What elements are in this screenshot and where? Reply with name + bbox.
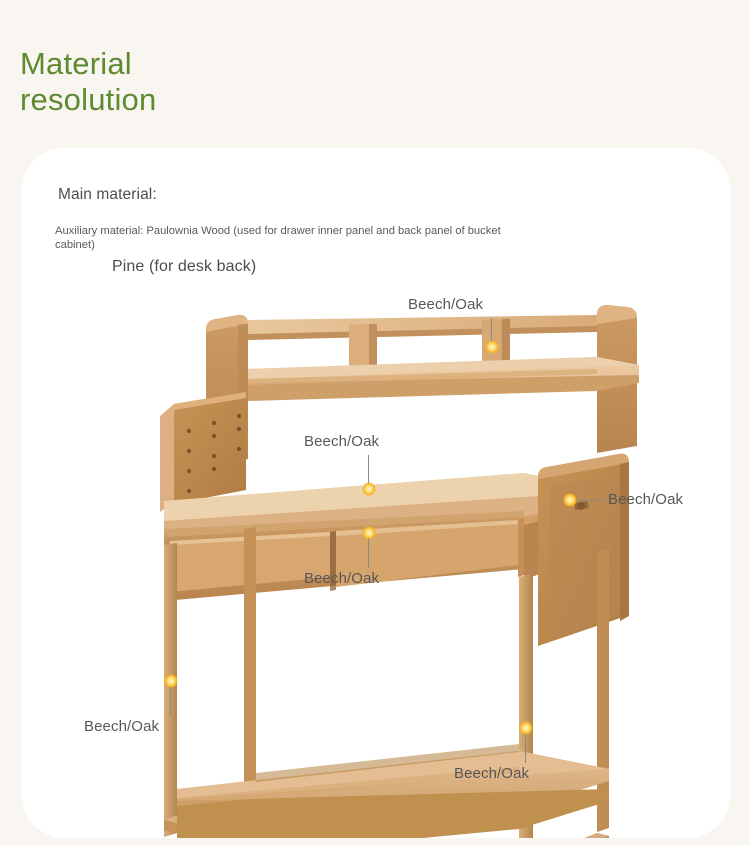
callout-label-hutch-divider: Beech/Oak (408, 296, 483, 313)
leader-line-hutch-divider (491, 318, 492, 344)
page-title: Material resolution (20, 46, 156, 119)
callout-label-drawer-front: Beech/Oak (304, 570, 379, 587)
leader-line-right-leg (525, 734, 526, 763)
main-material-label: Main material: (58, 186, 157, 204)
callout-label-side-cabinet: Beech/Oak (608, 491, 683, 508)
callout-label-desk-top: Beech/Oak (304, 433, 379, 450)
pine-material-text: Pine (for desk back) (112, 258, 256, 276)
material-card: Main material: Auxiliary material: Paulo… (22, 148, 730, 838)
leader-line-side-cabinet (578, 500, 606, 501)
auxiliary-material-text: Auxiliary material: Paulownia Wood (used… (55, 224, 530, 253)
leader-line-left-leg (170, 687, 171, 716)
leader-line-drawer-front (368, 538, 369, 568)
leader-line-desk-top (368, 455, 369, 487)
callout-label-right-leg: Beech/Oak (454, 765, 529, 782)
callout-label-left-leg: Beech/Oak (84, 718, 159, 735)
